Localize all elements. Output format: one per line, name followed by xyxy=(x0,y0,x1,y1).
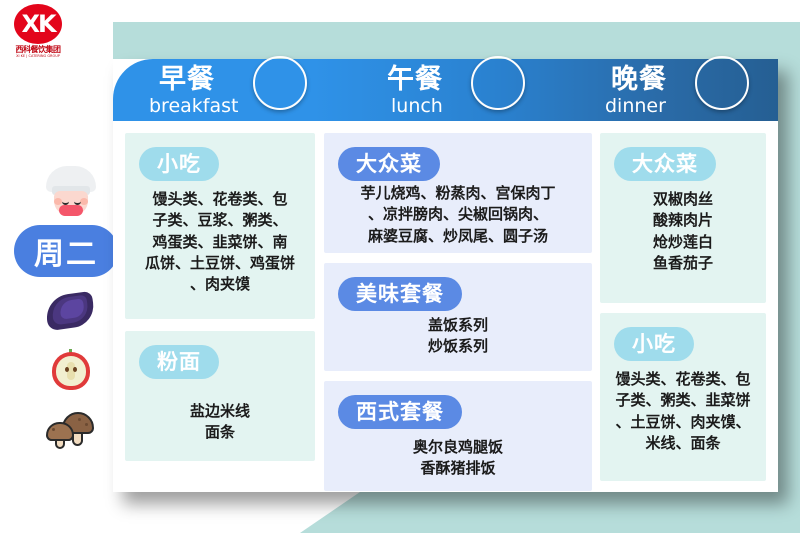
purple-cabbage-icon xyxy=(40,288,100,334)
menu-item-line: 、土豆饼、肉夹馍、 xyxy=(610,412,756,433)
meal-title-cn-breakfast: 早餐 xyxy=(159,66,215,93)
category-badge-dinner-popular: 大众菜 xyxy=(614,147,716,181)
mushroom-cap-front xyxy=(46,422,74,441)
category-badge-breakfast-noodles: 粉面 xyxy=(139,345,219,379)
category-label: 小吃 xyxy=(632,334,676,355)
day-of-week-label: 周二 xyxy=(34,229,98,273)
menu-item-line: 子类、粥类、韭菜饼 xyxy=(610,390,756,411)
meal-title-cn-dinner: 晚餐 xyxy=(611,66,667,93)
menu-item-line: 米线、面条 xyxy=(610,433,756,454)
meal-title-en-lunch: lunch xyxy=(391,97,443,116)
menu-column-dinner: 大众菜 双椒肉丝 酸辣肉片 炝炒莲白 鱼香茄子 小吃 馒头类、花卷类、包 子类、… xyxy=(600,133,766,481)
meal-title-en-breakfast: breakfast xyxy=(149,97,238,116)
breakfast-plate-photo xyxy=(253,56,307,110)
meal-header-dinner: 晚餐 dinner xyxy=(557,59,778,121)
mushroom-speck-2 xyxy=(85,423,88,426)
brand-logo: XK 西科餐饮集团 XI KE | CATERING GROUP xyxy=(8,4,68,60)
xike-logo-icon: XK xyxy=(14,4,62,44)
menu-item-line: 瓜饼、土豆饼、鸡蛋饼 xyxy=(135,253,305,274)
mushroom-speck-3 xyxy=(52,428,55,431)
meal-header-bar: 早餐 breakfast 午餐 lunch 晚餐 dinner xyxy=(113,59,778,121)
menu-panel-dinner-popular: 大众菜 双椒肉丝 酸辣肉片 炝炒莲白 鱼香茄子 xyxy=(600,133,766,303)
menu-item-line: 麻婆豆腐、炒凤尾、圆子汤 xyxy=(334,226,582,247)
lunch-platter-photo xyxy=(471,56,525,110)
menu-item: 双椒肉丝 xyxy=(610,189,756,210)
menu-item-line: 鸡蛋类、韭菜饼、南 xyxy=(135,232,305,253)
menu-panel-lunch-western: 西式套餐 奥尔良鸡腿饭 香酥猪排饭 xyxy=(324,381,592,491)
category-badge-breakfast-snacks: 小吃 xyxy=(139,147,219,181)
chef-mustache-shape xyxy=(59,205,83,216)
menu-panel-breakfast-noodles: 粉面 盐边米线 面条 xyxy=(125,331,315,461)
menu-panel-lunch-popular: 大众菜 芋儿烧鸡、粉蒸肉、宫保肉丁 、凉拌膀肉、尖椒回锅肉、 麻婆豆腐、炒凤尾、… xyxy=(324,133,592,253)
chef-mascot-icon xyxy=(38,166,104,228)
menu-items-lunch-popular: 芋儿烧鸡、粉蒸肉、宫保肉丁 、凉拌膀肉、尖椒回锅肉、 麻婆豆腐、炒凤尾、圆子汤 xyxy=(324,183,592,247)
brand-name-en: XI KE | CATERING GROUP xyxy=(8,54,68,58)
menu-column-breakfast: 小吃 馒头类、花卷类、包 子类、豆浆、粥类、 鸡蛋类、韭菜饼、南 瓜饼、土豆饼、… xyxy=(125,133,315,461)
menu-item-line: 芋儿烧鸡、粉蒸肉、宫保肉丁 xyxy=(334,183,582,204)
apple-half-icon xyxy=(40,348,100,394)
menu-item: 盖饭系列 xyxy=(334,315,582,336)
menu-item-line: 、肉夹馍 xyxy=(135,274,305,295)
background-white-top-band xyxy=(0,0,800,22)
apple-seed-right xyxy=(73,367,77,372)
category-label: 小吃 xyxy=(157,154,201,175)
menu-item-line: 馒头类、花卷类、包 xyxy=(135,189,305,210)
chef-cheek-right xyxy=(80,198,88,205)
category-label: 大众菜 xyxy=(632,154,698,175)
meal-title-en-dinner: dinner xyxy=(605,97,666,116)
category-label: 西式套餐 xyxy=(356,402,444,423)
apple-seed-left xyxy=(65,367,69,372)
menu-items-lunch-set-meals: 盖饭系列 炒饭系列 xyxy=(324,315,592,358)
category-badge-dinner-snacks: 小吃 xyxy=(614,327,694,361)
category-label: 大众菜 xyxy=(356,154,422,175)
category-label: 粉面 xyxy=(157,352,201,373)
menu-item: 奥尔良鸡腿饭 xyxy=(334,437,582,458)
menu-item: 炝炒莲白 xyxy=(610,232,756,253)
menu-item: 炒饭系列 xyxy=(334,336,582,357)
day-of-week-badge: 周二 xyxy=(14,225,118,277)
dinner-platter-photo xyxy=(695,56,749,110)
menu-panel-dinner-snacks: 小吃 馒头类、花卷类、包 子类、粥类、韭菜饼 、土豆饼、肉夹馍、 米线、面条 xyxy=(600,313,766,481)
menu-item: 盐边米线 xyxy=(135,401,305,422)
meal-header-lunch: 午餐 lunch xyxy=(335,59,557,121)
menu-items-breakfast-snacks: 馒头类、花卷类、包 子类、豆浆、粥类、 鸡蛋类、韭菜饼、南 瓜饼、土豆饼、鸡蛋饼… xyxy=(125,189,315,295)
menu-board: 早餐 breakfast 午餐 lunch 晚餐 dinner 小吃 馒头类、花… xyxy=(113,59,778,492)
category-badge-lunch-set-meals: 美味套餐 xyxy=(338,277,462,311)
menu-panel-breakfast-snacks: 小吃 馒头类、花卷类、包 子类、豆浆、粥类、 鸡蛋类、韭菜饼、南 瓜饼、土豆饼、… xyxy=(125,133,315,319)
category-badge-lunch-western: 西式套餐 xyxy=(338,395,462,429)
menu-item-line: 馒头类、花卷类、包 xyxy=(610,369,756,390)
menu-items-dinner-popular: 双椒肉丝 酸辣肉片 炝炒莲白 鱼香茄子 xyxy=(600,189,766,274)
menu-item: 面条 xyxy=(135,422,305,443)
menu-items-dinner-snacks: 馒头类、花卷类、包 子类、粥类、韭菜饼 、土豆饼、肉夹馍、 米线、面条 xyxy=(600,369,766,454)
menu-item: 香酥猪排饭 xyxy=(334,458,582,479)
meal-title-cn-lunch: 午餐 xyxy=(387,66,443,93)
menu-column-lunch: 大众菜 芋儿烧鸡、粉蒸肉、宫保肉丁 、凉拌膀肉、尖椒回锅肉、 麻婆豆腐、炒凤尾、… xyxy=(324,133,592,491)
chef-cheek-left xyxy=(54,198,62,205)
mushroom-speck-1 xyxy=(78,418,81,421)
menu-panel-lunch-set-meals: 美味套餐 盖饭系列 炒饭系列 xyxy=(324,263,592,371)
menu-item-line: 、凉拌膀肉、尖椒回锅肉、 xyxy=(334,204,582,225)
mushroom-icon xyxy=(40,406,100,452)
menu-item: 酸辣肉片 xyxy=(610,210,756,231)
menu-items-breakfast-noodles: 盐边米线 面条 xyxy=(125,401,315,444)
category-label: 美味套餐 xyxy=(356,284,444,305)
background-white-bottom-notch xyxy=(0,492,360,533)
category-badge-lunch-popular: 大众菜 xyxy=(338,147,440,181)
menu-item: 鱼香茄子 xyxy=(610,253,756,274)
meal-header-breakfast: 早餐 breakfast xyxy=(113,59,335,121)
menu-items-lunch-western: 奥尔良鸡腿饭 香酥猪排饭 xyxy=(324,437,592,480)
menu-item-line: 子类、豆浆、粥类、 xyxy=(135,210,305,231)
